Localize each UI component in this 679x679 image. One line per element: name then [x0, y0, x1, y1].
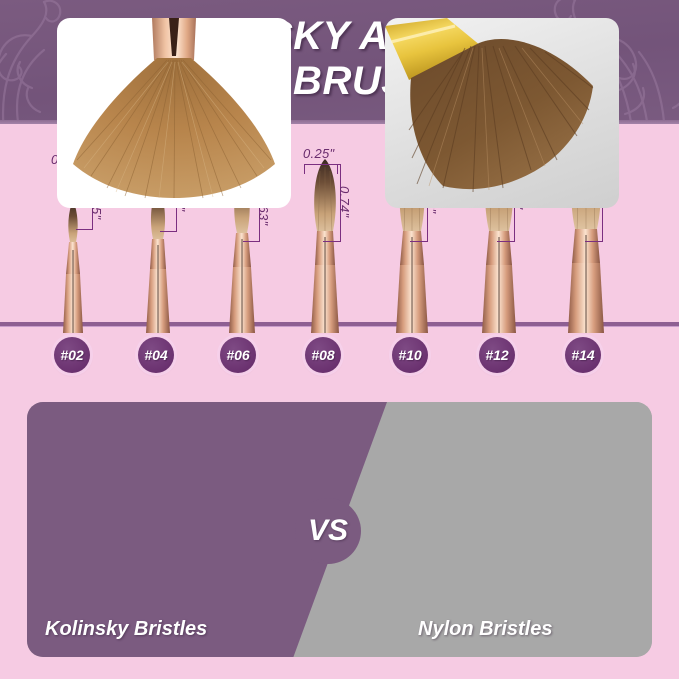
product-infographic: KOLINSKY ACRYLIC NAIL BRUSHES: [0, 0, 679, 679]
size-badge-02[interactable]: #02: [54, 337, 90, 373]
brush-length-label-08: 0.74": [337, 186, 352, 217]
size-badge-08[interactable]: #08: [305, 337, 341, 373]
nylon-caption: Nylon Bristles: [418, 618, 552, 641]
size-badge-10[interactable]: #10: [392, 337, 428, 373]
size-badge-14[interactable]: #14: [565, 337, 601, 373]
size-badge-04[interactable]: #04: [138, 337, 174, 373]
size-badge-12[interactable]: #12: [479, 337, 515, 373]
vs-label: VS: [295, 498, 361, 564]
brush-width-label-08: 0.25": [303, 146, 334, 161]
kolinsky-caption: Kolinsky Bristles: [45, 618, 207, 641]
kolinsky-fan-brush-photo: [57, 18, 291, 208]
size-badge-06[interactable]: #06: [220, 337, 256, 373]
nylon-fan-brush-photo: [385, 18, 619, 208]
